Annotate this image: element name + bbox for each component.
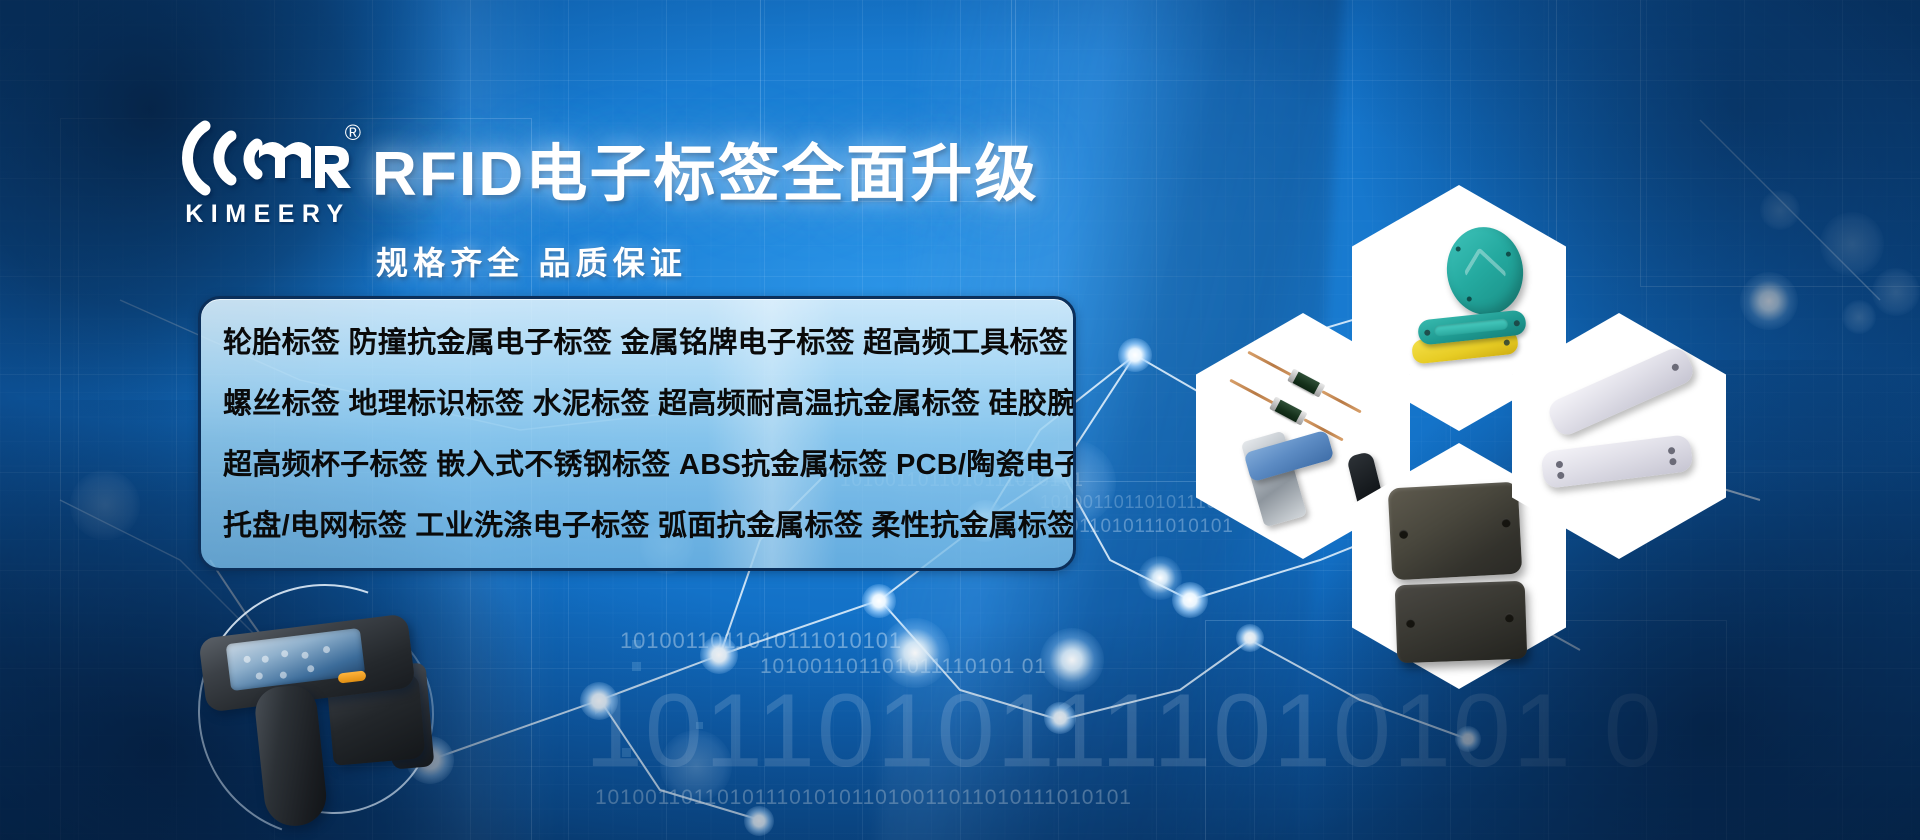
handheld-rfid-reader xyxy=(190,598,480,840)
registered-trademark-icon: ® xyxy=(345,122,361,144)
blue-on-metal-tag xyxy=(1246,441,1332,471)
dark-anti-metal-tag-2 xyxy=(1396,583,1526,661)
teal-bar-tag xyxy=(1418,315,1526,340)
rfid-promo-banner: 10110101111010101 0 10100110110101110101… xyxy=(0,0,1920,840)
product-list-row: 超高频杯子标签 嵌入式不锈钢标签 ABS抗金属标签 PCB/陶瓷电子标签 xyxy=(223,435,1051,496)
product-list-row: 螺丝标签 地理标识标签 水泥标签 超高频耐高温抗金属标签 硅胶腕带 xyxy=(223,374,1051,435)
product-hexagon-cluster xyxy=(1150,185,1810,635)
product-list-panel: 轮胎标签 防撞抗金属电子标签 金属铭牌电子标签 超高频工具标签 螺丝标签 地理标… xyxy=(198,296,1076,571)
product-list-row: 轮胎标签 防撞抗金属电子标签 金属铭牌电子标签 超高频工具标签 xyxy=(223,313,1051,374)
brand-logo[interactable]: ® KIMEERY xyxy=(175,118,355,233)
banner-subheadline: 规格齐全 品质保证 xyxy=(376,238,687,284)
product-list-row: 托盘/电网标签 工业洗涤电子标签 弧面抗金属标签 柔性抗金属标签 xyxy=(223,496,1051,557)
kimeery-wave-logo-icon: ® xyxy=(175,118,355,196)
teal-round-disc-tag xyxy=(1447,227,1523,315)
brand-wordmark: KIMEERY xyxy=(175,200,355,229)
dark-anti-metal-tag xyxy=(1390,485,1520,577)
banner-headline: RFID电子标签全面升级 xyxy=(372,123,1039,213)
